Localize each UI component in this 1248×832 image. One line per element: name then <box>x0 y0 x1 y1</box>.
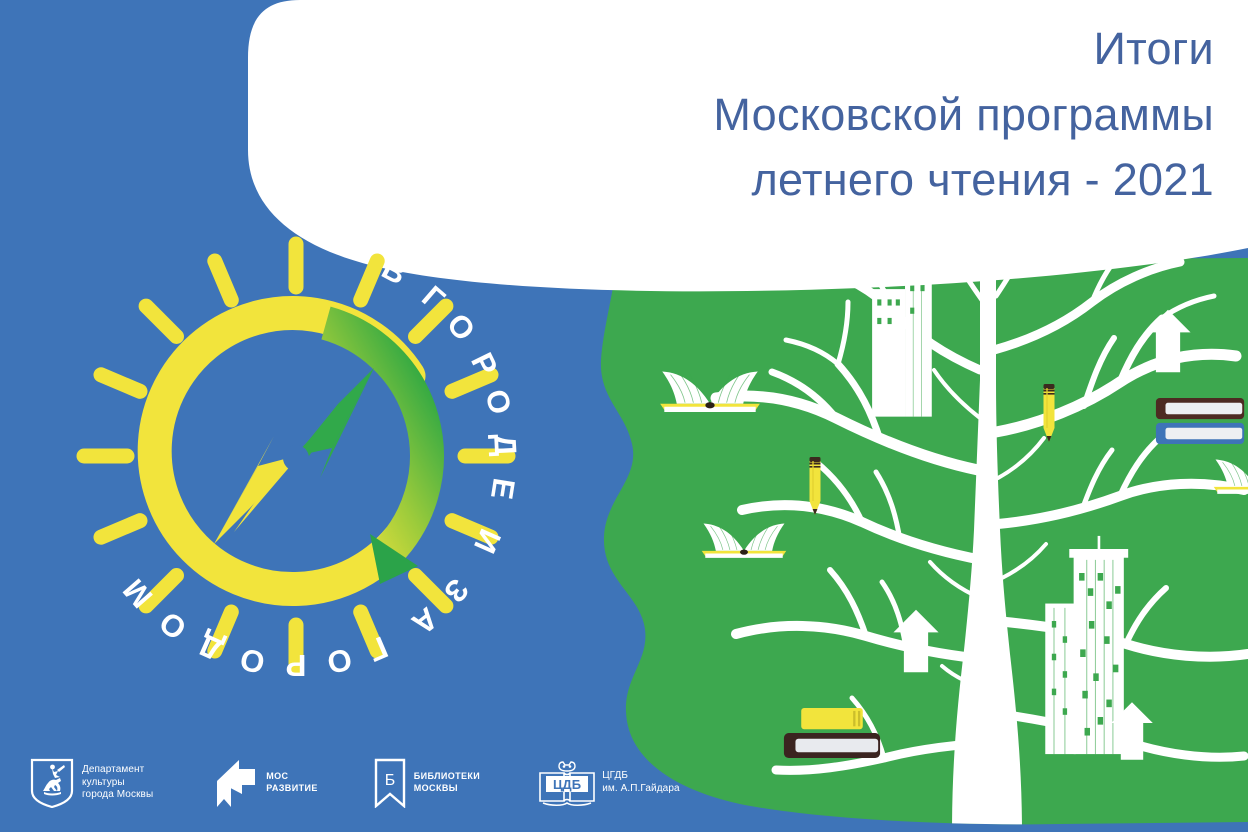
partner-label: ЦГДБ им. А.П.Гайдара <box>602 770 679 796</box>
svg-text:ЦДБ: ЦДБ <box>553 777 581 792</box>
poster-artwork: В Г О Р О Д Е И З А Г О Р О Д О М <box>0 0 1248 832</box>
bookmark-b-icon: Б <box>374 758 406 808</box>
partner-label: МОС РАЗВИТИЕ <box>266 771 318 794</box>
partner-label: Департамент культуры города Москвы <box>82 764 153 802</box>
svg-text:Д: Д <box>487 433 523 457</box>
poster-canvas: В Г О Р О Д Е И З А Г О Р О Д О М <box>0 0 1248 832</box>
partner-logo-dept-culture[interactable]: Департамент культуры города Москвы <box>30 758 153 808</box>
partner-logo-strip: Департамент культуры города Москвы МОС Р… <box>30 758 680 808</box>
white-title-panel <box>248 0 1248 291</box>
partner-logo-cgdb-gaidar[interactable]: ЦДБ ЦГДБ им. А.П.Гайдара <box>538 759 679 807</box>
svg-text:Б: Б <box>385 772 396 789</box>
partner-logo-moscow-libraries[interactable]: Б БИБЛИОТЕКИ МОСКВЫ <box>374 758 480 808</box>
svg-text:Р: Р <box>286 648 307 683</box>
mos-razvitie-arrow-icon <box>211 759 259 807</box>
partner-logo-mos-razvitie[interactable]: МОС РАЗВИТИЕ <box>211 759 318 807</box>
partner-label: БИБЛИОТЕКИ МОСКВЫ <box>414 771 480 794</box>
moscow-coat-of-arms-icon <box>30 758 74 808</box>
cgdb-book-owl-icon: ЦДБ <box>538 759 596 807</box>
